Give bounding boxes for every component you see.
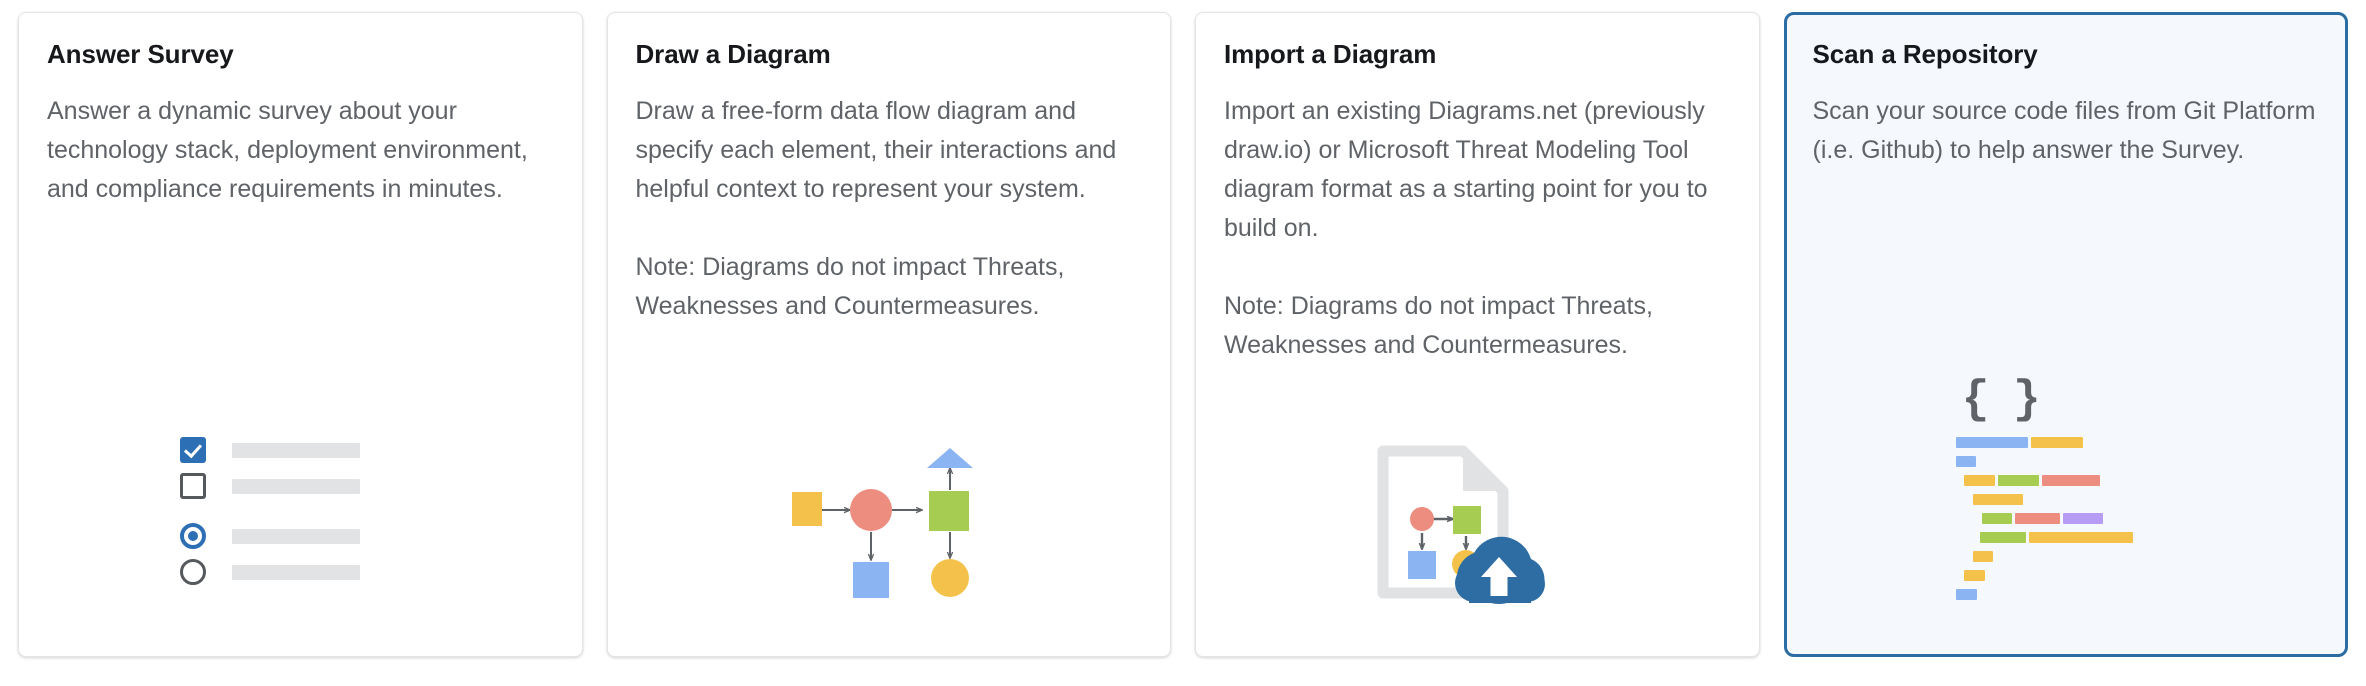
code-segment (2015, 513, 2060, 524)
option-card-answer-survey[interactable]: Answer Survey Answer a dynamic survey ab… (18, 12, 583, 657)
yellow-square-shape (792, 492, 822, 526)
option-card-draw-a-diagram[interactable]: Draw a Diagram Draw a free-form data flo… (607, 12, 1172, 657)
code-segment (1973, 494, 2023, 505)
code-lines-group (1956, 437, 2176, 600)
card-description: Answer a dynamic survey about your techn… (47, 92, 554, 209)
code-segment (2029, 532, 2133, 543)
code-braces-icon: { } (1956, 377, 2176, 608)
placeholder-bar (232, 479, 360, 494)
checkbox-checked-icon (180, 437, 206, 463)
card-note: Note: Diagrams do not impact Threats, We… (636, 248, 1143, 326)
card-description: Draw a free-form data flow diagram and s… (636, 92, 1143, 209)
placeholder-bar (232, 443, 360, 458)
survey-icon (180, 436, 420, 594)
card-title: Scan a Repository (1813, 39, 2320, 70)
code-line (1956, 589, 2176, 600)
placeholder-bar (232, 565, 360, 580)
code-line (1956, 513, 2176, 524)
option-card-scan-a-repository[interactable]: Scan a Repository Scan your source code … (1784, 12, 2349, 657)
option-card-grid: Answer Survey Answer a dynamic survey ab… (0, 0, 2366, 657)
salmon-circle-shape (850, 489, 892, 531)
green-square-shape (1453, 506, 1481, 534)
card-title: Import a Diagram (1224, 39, 1731, 70)
yellow-circle-shape (931, 559, 969, 597)
code-segment (1982, 513, 2012, 524)
code-line (1956, 494, 2176, 505)
code-segment (1964, 570, 1985, 581)
code-line (1956, 570, 2176, 581)
card-description: Import an existing Diagrams.net (previou… (1224, 92, 1731, 248)
card-title: Answer Survey (47, 39, 554, 70)
blue-square-shape (1408, 551, 1436, 579)
survey-row (180, 436, 420, 464)
code-segment (1956, 456, 1976, 467)
radio-selected-icon (180, 523, 206, 549)
survey-row (180, 522, 420, 550)
code-line (1956, 551, 2176, 562)
code-segment (1956, 589, 1977, 600)
option-card-import-a-diagram[interactable]: Import a Diagram Import an existing Diag… (1195, 12, 1760, 657)
blue-square-shape (853, 562, 889, 598)
document-fold-corner (1463, 451, 1503, 491)
diagram-icon (774, 448, 1004, 608)
code-segment (1980, 532, 2026, 543)
salmon-circle-shape (1410, 507, 1434, 531)
card-artwork (1224, 365, 1731, 656)
survey-row (180, 472, 420, 500)
card-artwork: { } (1813, 170, 2320, 654)
code-line (1956, 456, 2176, 467)
survey-row (180, 558, 420, 586)
card-title: Draw a Diagram (636, 39, 1143, 70)
curly-braces-icon: { } (1962, 377, 2176, 423)
card-description: Scan your source code files from Git Pla… (1813, 92, 2320, 170)
import-diagram-icon (1377, 443, 1577, 608)
code-segment (1973, 551, 1993, 562)
code-segment (2031, 437, 2083, 448)
code-segment (1998, 475, 2039, 486)
code-line (1956, 437, 2176, 448)
code-segment (1956, 437, 2028, 448)
radio-unselected-icon (180, 559, 206, 585)
code-line (1956, 532, 2176, 543)
green-square-shape (929, 491, 969, 531)
code-segment (1964, 475, 1995, 486)
code-segment (2063, 513, 2103, 524)
card-note: Note: Diagrams do not impact Threats, We… (1224, 287, 1731, 365)
code-line (1956, 475, 2176, 486)
blue-triangle-shape (927, 448, 973, 468)
card-artwork (636, 326, 1143, 656)
cloud-upload-icon (1455, 537, 1545, 604)
placeholder-bar (232, 529, 360, 544)
checkbox-unchecked-icon (180, 473, 206, 499)
code-segment (2042, 475, 2100, 486)
card-artwork (47, 209, 554, 656)
